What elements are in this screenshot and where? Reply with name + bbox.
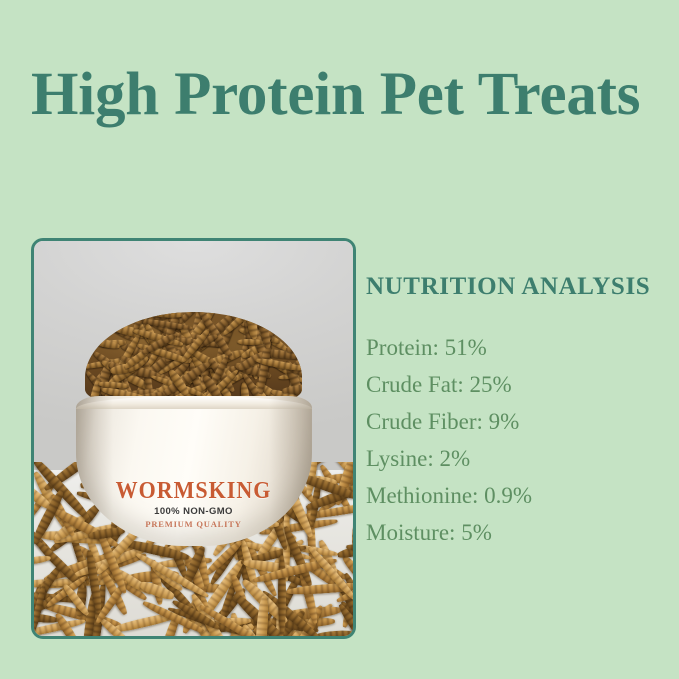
nutrition-item: Methionine: 0.9% bbox=[366, 477, 666, 514]
brand-tagline-text: 100% NON-GMO bbox=[75, 506, 311, 517]
bowl-brand-mark: WORMSKING 100% NON-GMO PREMIUM QUALITY bbox=[75, 477, 311, 529]
product-photo-frame: WORMSKING 100% NON-GMO PREMIUM QUALITY bbox=[31, 238, 356, 639]
nutrition-item: Crude Fiber: 9% bbox=[366, 403, 666, 440]
nutrition-item: Moisture: 5% bbox=[366, 514, 666, 551]
product-photo: WORMSKING 100% NON-GMO PREMIUM QUALITY bbox=[34, 241, 353, 636]
page-title: High Protein Pet Treats bbox=[31, 62, 671, 128]
nutrition-item: Protein: 51% bbox=[366, 329, 666, 366]
mealworm bbox=[87, 335, 121, 350]
brand-subtagline-text: PREMIUM QUALITY bbox=[75, 519, 311, 529]
nutrition-item: Lysine: 2% bbox=[366, 440, 666, 477]
mealworm bbox=[278, 555, 286, 635]
nutrition-list: Protein: 51%Crude Fat: 25%Crude Fiber: 9… bbox=[366, 329, 666, 551]
brand-name-text: WORMSKING bbox=[75, 476, 311, 505]
product-infographic: High Protein Pet Treats WORMSKING 100% N… bbox=[0, 0, 679, 679]
nutrition-heading: NUTRITION ANALYSIS bbox=[366, 272, 666, 302]
bowl-group: WORMSKING 100% NON-GMO PREMIUM QUALITY bbox=[75, 312, 311, 546]
mealworm-heap bbox=[85, 312, 302, 404]
ceramic-bowl: WORMSKING 100% NON-GMO PREMIUM QUALITY bbox=[75, 396, 311, 546]
nutrition-panel: NUTRITION ANALYSIS Protein: 51%Crude Fat… bbox=[366, 272, 666, 551]
nutrition-item: Crude Fat: 25% bbox=[366, 366, 666, 403]
